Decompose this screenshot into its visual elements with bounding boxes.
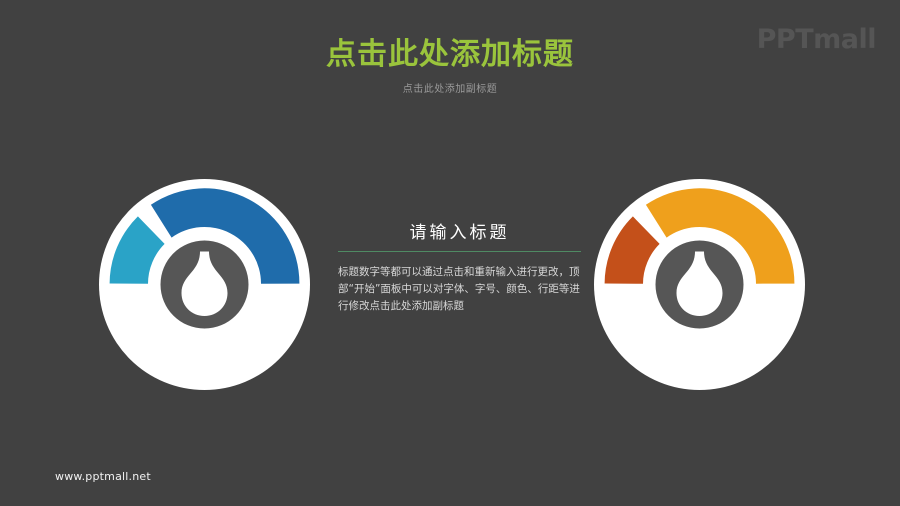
- page-subtitle[interactable]: 点击此处添加副标题: [0, 80, 900, 95]
- slide-canvas: PPTmall 点击此处添加标题 点击此处添加副标题 请输入标题 标题数字等: [0, 0, 900, 506]
- gauge-chart-left[interactable]: [99, 179, 310, 390]
- center-divider: [338, 251, 581, 252]
- center-body-text[interactable]: 标题数字等都可以通过点击和重新输入进行更改，顶部“开始”面板中可以对字体、字号、…: [338, 264, 581, 315]
- gauge-chart-right[interactable]: [594, 179, 805, 390]
- page-title[interactable]: 点击此处添加标题: [0, 38, 900, 71]
- footer-url: www.pptmall.net: [55, 470, 151, 483]
- center-heading[interactable]: 请输入标题: [338, 218, 581, 243]
- title-block: 点击此处添加标题 点击此处添加副标题: [0, 38, 900, 95]
- center-text-block: 请输入标题 标题数字等都可以通过点击和重新输入进行更改，顶部“开始”面板中可以对…: [338, 218, 581, 315]
